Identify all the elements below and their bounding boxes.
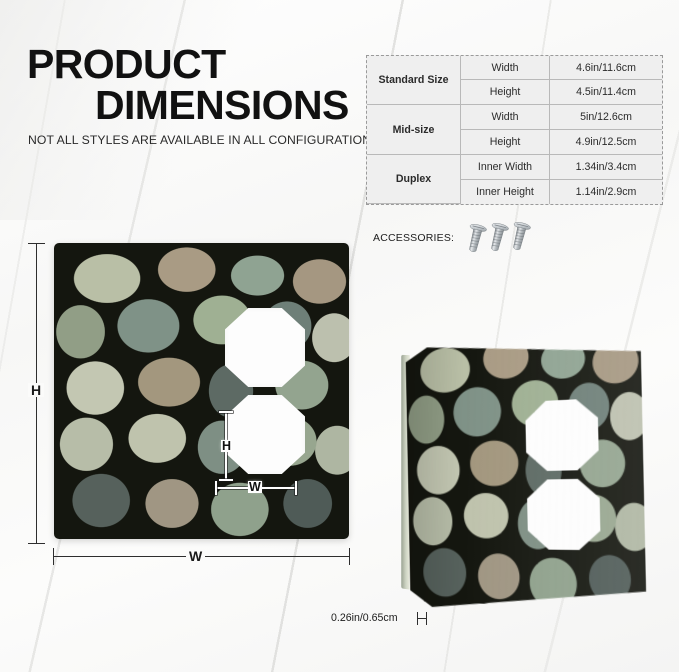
table-cell-value: 4.6in/11.6cm <box>550 56 663 80</box>
title-line-1: PRODUCT <box>27 44 349 84</box>
inner-height-cap-bottom <box>219 479 233 481</box>
table-cell-value: 4.5in/11.4cm <box>550 80 663 105</box>
table-cell-dimension: Width <box>461 105 550 130</box>
thickness-label: 0.26in/0.65cm <box>331 612 398 624</box>
table-cell-dimension: Height <box>461 80 550 105</box>
table-cell-category: Duplex <box>367 155 461 204</box>
outlet-cutout-top <box>225 308 305 387</box>
thickness-bar <box>417 618 427 619</box>
table-row: Duplex Inner Width 1.34in/3.4cm <box>367 155 662 180</box>
outer-height-cap-bottom <box>28 543 45 544</box>
screws-icon <box>467 218 537 260</box>
table-cell-dimension: Height <box>461 130 550 155</box>
table-cell-dimension: Inner Width <box>461 155 550 180</box>
table-cell-value: 4.9in/12.5cm <box>550 130 663 155</box>
page-subtitle: NOT ALL STYLES ARE AVAILABLE IN ALL CONF… <box>28 133 379 147</box>
inner-height-label: H <box>221 440 232 452</box>
outlet-cutout-top-angled <box>525 398 599 471</box>
outer-width-cap-right <box>349 548 350 565</box>
inner-width-cap-right <box>295 481 297 495</box>
table-cell-category: Mid-size <box>367 105 461 155</box>
dimensions-table: Standard Size Width 4.6in/11.6cm Height … <box>366 55 663 205</box>
product-angled-view <box>408 341 633 606</box>
product-front-view <box>54 243 349 539</box>
outlet-cutout-bottom-angled <box>527 479 601 551</box>
table-row: Mid-size Width 5in/12.6cm <box>367 105 662 130</box>
table-cell-value: 1.34in/3.4cm <box>550 155 663 180</box>
outer-height-label: H <box>28 383 44 397</box>
inner-width-label: W <box>248 481 262 493</box>
outlet-cutout-bottom <box>225 395 305 474</box>
table-row: Standard Size Width 4.6in/11.6cm <box>367 56 662 80</box>
table-cell-dimension: Width <box>461 56 550 80</box>
outer-width-cap-left <box>53 548 54 565</box>
table-cell-value: 5in/12.6cm <box>550 105 663 130</box>
outer-height-cap-top <box>28 243 45 244</box>
inner-width-cap-left <box>215 481 217 495</box>
page-title: PRODUCT DIMENSIONS <box>27 44 349 126</box>
wall-plate-stone-surface <box>54 243 349 539</box>
stone-veining-angled <box>405 322 646 615</box>
inner-height-cap-top <box>219 411 233 413</box>
title-line-2: DIMENSIONS <box>95 84 349 126</box>
table-cell-dimension: Inner Height <box>461 180 550 204</box>
table-cell-value: 1.14in/2.9cm <box>550 180 663 204</box>
stone-veining <box>54 243 349 539</box>
wall-plate-stone-surface-angled <box>405 322 646 615</box>
accessories-label: ACCESSORIES: <box>373 232 454 244</box>
accessories-label-group: ACCESSORIES: <box>373 228 454 246</box>
table-cell-category: Standard Size <box>367 56 461 105</box>
outer-width-label: W <box>186 549 205 563</box>
